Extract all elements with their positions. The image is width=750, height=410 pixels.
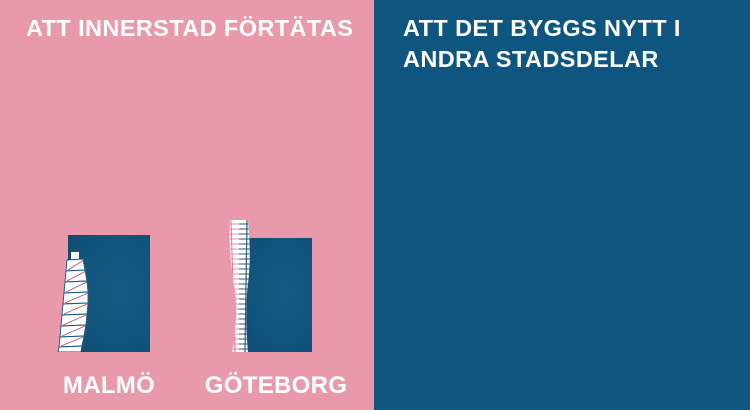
panel-divider [374, 0, 375, 410]
turning-torso-building-icon [54, 252, 102, 352]
city-label-goteborg-left: GÖTEBORG [190, 374, 362, 398]
infographic-root: ATT INNERSTAD FÖRTÄTAS 62% [0, 0, 750, 410]
city-label-malmo-left: MALMÖ [38, 374, 180, 398]
panel-left-bar-group: 62% [0, 0, 375, 410]
panel-byggs-nytt-andra-stadsdelar: ATT DET BYGGS NYTT I ANDRA STADSDELAR 90… [375, 0, 750, 410]
panel-innerstad-fortatas: ATT INNERSTAD FÖRTÄTAS 62% [0, 0, 375, 410]
panel-right-bar-group: 90% [375, 0, 750, 410]
karlatornet-tower-icon [222, 220, 258, 352]
